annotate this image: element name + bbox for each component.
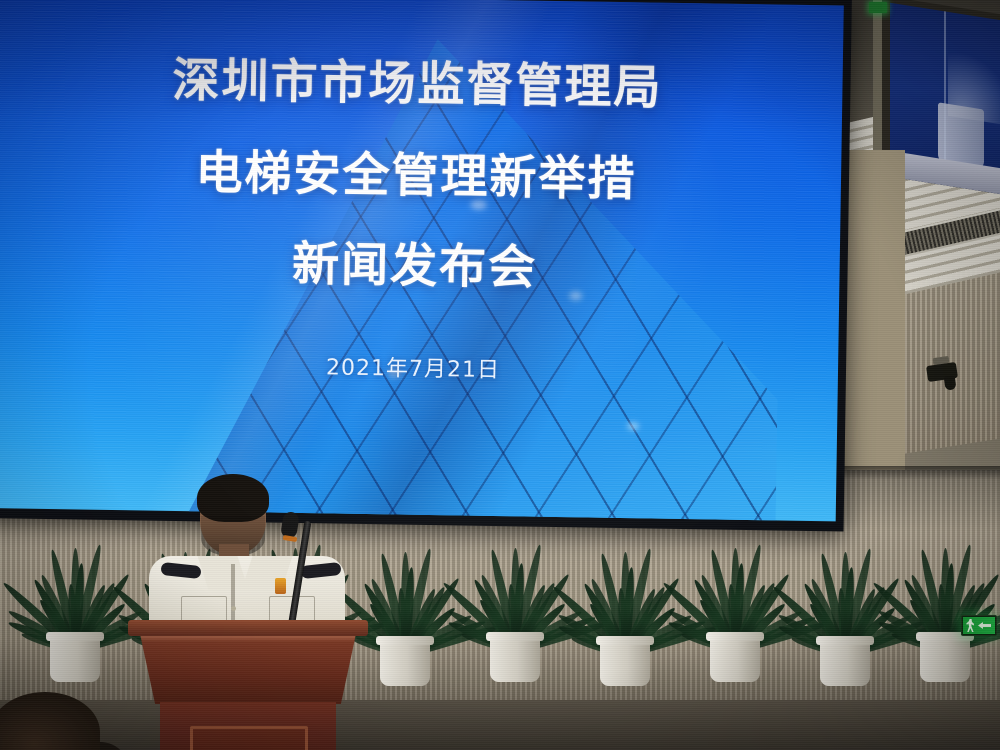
plant-foliage	[460, 490, 570, 650]
wall-upper-right	[845, 150, 905, 480]
potted-plant	[570, 504, 680, 694]
plant-pot	[920, 636, 970, 682]
plant-foliage	[570, 494, 680, 654]
conference-photo: 深圳市市场监督管理局 电梯安全管理新举措 新闻发布会 2021年7月21日	[0, 0, 1000, 750]
plant-foliage	[680, 490, 790, 650]
podium-front-panel	[190, 726, 308, 750]
plant-foliage	[20, 490, 130, 650]
exit-indicator-icon	[869, 2, 887, 13]
podium	[128, 620, 368, 750]
exit-sign	[961, 615, 997, 636]
plant-pot	[600, 640, 650, 686]
security-camera-icon	[926, 362, 958, 382]
potted-plant	[460, 502, 570, 690]
potted-plant	[790, 504, 900, 694]
chest-badge-icon	[275, 578, 286, 594]
screen-scanlines	[0, 0, 844, 521]
plant-pot	[710, 636, 760, 682]
plant-pot	[820, 640, 870, 686]
led-screen: 深圳市市场监督管理局 电梯安全管理新举措 新闻发布会 2021年7月21日	[0, 0, 844, 521]
podium-top-surface	[128, 620, 368, 636]
speaker-hair	[197, 474, 269, 522]
plant-pot	[50, 636, 100, 682]
plant-pot	[380, 640, 430, 686]
potted-plant	[890, 512, 1000, 690]
shirt-button	[231, 606, 236, 611]
plant-foliage	[790, 494, 900, 654]
potted-plant	[680, 506, 790, 690]
screen-bezel: 深圳市市场监督管理局 电梯安全管理新举措 新闻发布会 2021年7月21日	[0, 0, 852, 532]
potted-plant	[20, 508, 130, 690]
podium-body	[140, 634, 356, 704]
window-glass	[890, 3, 1000, 196]
plant-pot	[490, 636, 540, 682]
